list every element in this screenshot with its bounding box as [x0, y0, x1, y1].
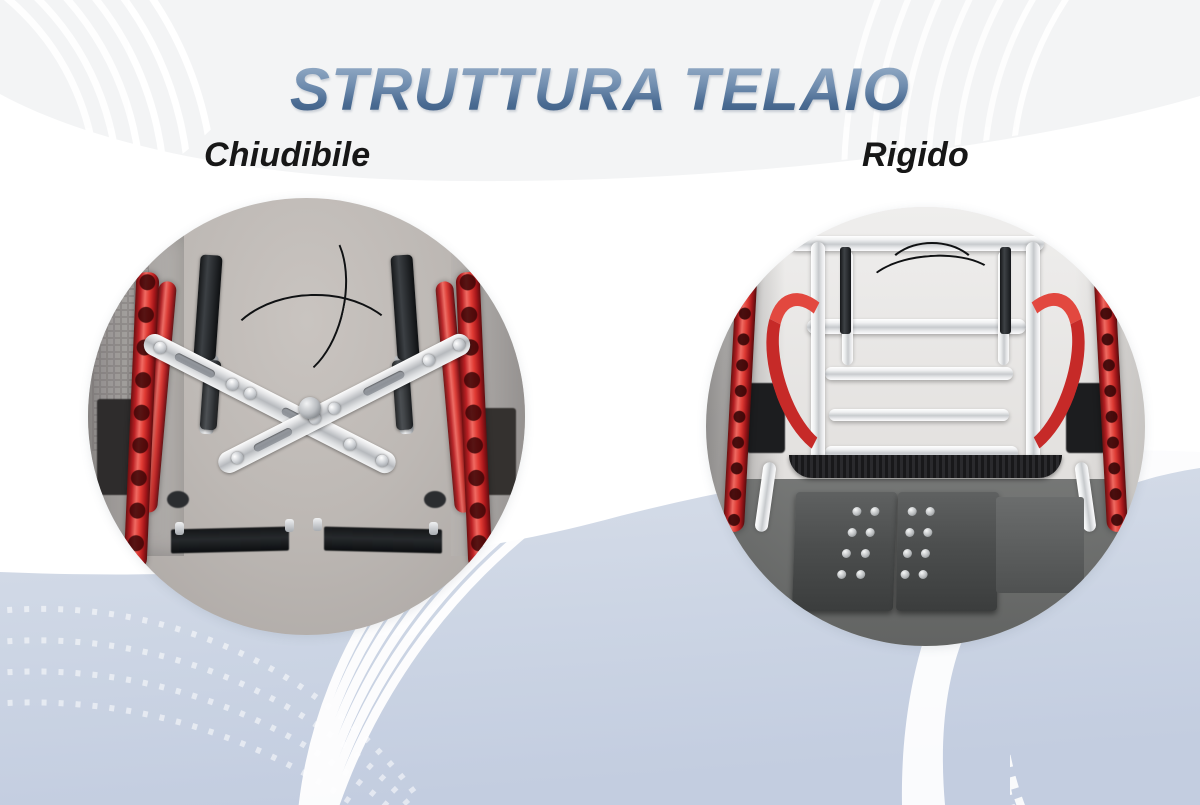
rigid-frame-photo-content: [706, 207, 1145, 646]
tube-end-cap-right: [424, 491, 446, 508]
footplate-stud: [903, 549, 912, 558]
footplate-pin: [429, 522, 438, 535]
footplate-stud: [921, 549, 930, 558]
page-title: STRUTTURA TELAIO: [290, 58, 910, 121]
caption-chiudibile: Chiudibile: [204, 136, 370, 175]
footplate-stud: [908, 508, 917, 517]
footplate-pin: [313, 518, 322, 531]
footplate-stud: [865, 528, 874, 537]
arm-bolt: [224, 377, 240, 393]
footplate-stud: [870, 508, 879, 517]
arm-bolt: [374, 453, 390, 469]
footplate-stud: [905, 528, 914, 537]
footplate-stud: [847, 528, 856, 537]
footplate-pin: [175, 522, 184, 535]
rigid-frame-photo: [706, 207, 1145, 646]
folding-frame-photo-content: [88, 198, 525, 635]
arm-bolt: [229, 450, 245, 466]
seat-strap: [789, 455, 1061, 478]
caption-rigido: Rigido: [862, 136, 969, 175]
footplate-stud: [900, 571, 909, 580]
arm-bolt: [451, 337, 467, 353]
actuator-right: [1000, 247, 1011, 335]
arm-bolt: [341, 436, 357, 452]
footplate-pin: [285, 519, 294, 532]
tube-end-cap-left: [167, 491, 189, 508]
arm-bolt: [421, 352, 437, 368]
arm-bolt: [152, 340, 168, 356]
footplate-right: [896, 492, 999, 611]
footplate-stud: [926, 508, 935, 517]
page-title-wrap: STRUTTURA TELAIO: [0, 18, 1200, 161]
footplate-stud: [855, 571, 864, 580]
arm-bolt: [242, 386, 258, 402]
footplate-left: [792, 492, 897, 611]
footplate-stud: [923, 528, 932, 537]
slide-canvas: STRUTTURA TELAIO Chiudibile Rigido: [0, 0, 1200, 805]
footplate-stud: [919, 571, 928, 580]
arm-bolt: [326, 400, 342, 416]
footrest-extension: [996, 497, 1084, 594]
footplate-stud: [837, 571, 846, 580]
cross-brace-center-pivot: [299, 397, 321, 419]
footplate-bar-right: [324, 526, 442, 553]
actuator-left: [840, 247, 851, 335]
footplate-stud: [860, 549, 869, 558]
footplate-stud: [852, 508, 861, 517]
footplate-stud: [842, 549, 851, 558]
footplate-bar-left: [171, 526, 289, 553]
folding-frame-photo: [88, 198, 525, 635]
